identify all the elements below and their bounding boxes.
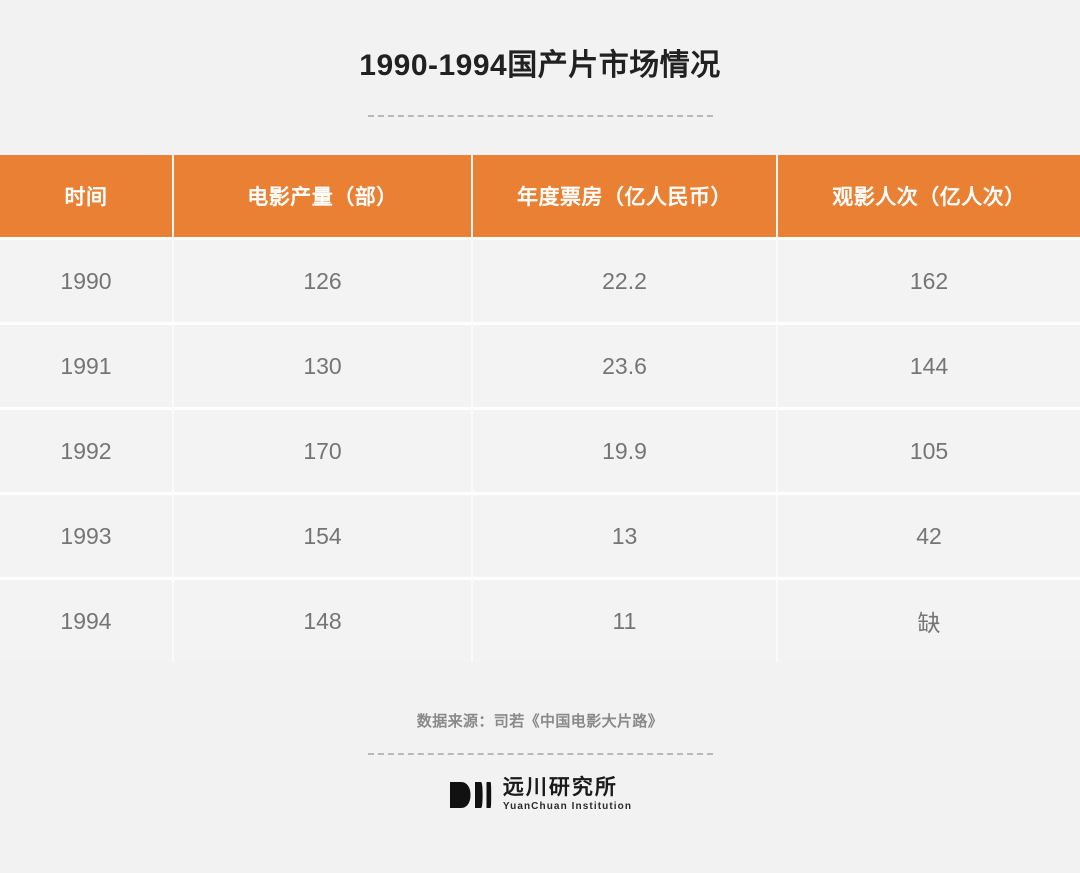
- source-note: 数据来源：司若《中国电影大片路》: [0, 710, 1080, 731]
- cell-admis: 42: [778, 492, 1080, 577]
- table-header: 时间 电影产量（部） 年度票房（亿人民币） 观影人次（亿人次）: [0, 155, 1080, 237]
- table-body: 1990 126 22.2 162 1991 130 23.6 144 1992…: [0, 237, 1080, 662]
- cell-time: 1994: [0, 577, 174, 662]
- column-header-admis: 观影人次（亿人次）: [778, 155, 1080, 237]
- cell-time: 1990: [0, 237, 174, 322]
- cell-admis: 144: [778, 322, 1080, 407]
- yuanchuan-logo-icon: [448, 781, 492, 809]
- column-header-time: 时间: [0, 155, 174, 237]
- cell-admis: 缺: [778, 577, 1080, 662]
- title-divider: [368, 115, 713, 117]
- table-header-row: 时间 电影产量（部） 年度票房（亿人民币） 观影人次（亿人次）: [0, 155, 1080, 237]
- table-row: 1992 170 19.9 105: [0, 407, 1080, 492]
- cell-output: 170: [174, 407, 473, 492]
- column-header-box: 年度票房（亿人民币）: [473, 155, 778, 237]
- footer-divider: [368, 753, 713, 755]
- cell-output: 126: [174, 237, 473, 322]
- cell-box: 23.6: [473, 322, 778, 407]
- table-row: 1990 126 22.2 162: [0, 237, 1080, 322]
- cell-admis: 162: [778, 237, 1080, 322]
- brand-name-cn: 远川研究所: [503, 777, 618, 798]
- cell-output: 154: [174, 492, 473, 577]
- market-data-table: 时间 电影产量（部） 年度票房（亿人民币） 观影人次（亿人次） 1990 126…: [0, 155, 1080, 662]
- table-row: 1994 148 11 缺: [0, 577, 1080, 662]
- footer: 数据来源：司若《中国电影大片路》 远川研究所 YuanChuan Institu…: [0, 710, 1080, 812]
- cell-output: 130: [174, 322, 473, 407]
- brand-logo: 远川研究所 YuanChuan Institution: [0, 777, 1080, 812]
- cell-admis: 105: [778, 407, 1080, 492]
- table-row: 1993 154 13 42: [0, 492, 1080, 577]
- brand-text: 远川研究所 YuanChuan Institution: [503, 777, 632, 812]
- cell-box: 11: [473, 577, 778, 662]
- cell-time: 1991: [0, 322, 174, 407]
- cell-output: 148: [174, 577, 473, 662]
- table-row: 1991 130 23.6 144: [0, 322, 1080, 407]
- cell-time: 1992: [0, 407, 174, 492]
- cell-box: 22.2: [473, 237, 778, 322]
- cell-box: 19.9: [473, 407, 778, 492]
- column-header-output: 电影产量（部）: [174, 155, 473, 237]
- cell-box: 13: [473, 492, 778, 577]
- page-title: 1990-1994国产片市场情况: [0, 46, 1080, 86]
- cell-time: 1993: [0, 492, 174, 577]
- brand-name-en: YuanChuan Institution: [503, 802, 632, 812]
- title-block: 1990-1994国产片市场情况: [0, 0, 1080, 117]
